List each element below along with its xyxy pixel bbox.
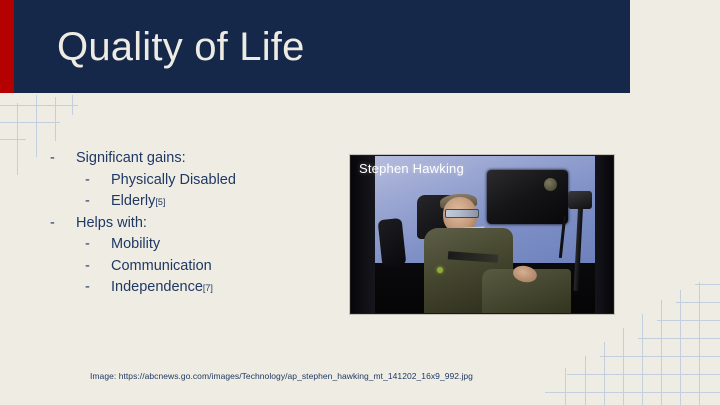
bullet-dash: - [50, 213, 76, 235]
grid-line [623, 328, 624, 405]
grid-line [657, 320, 720, 321]
slide-canvas: Quality of Life - Significant gains: - P… [0, 0, 720, 405]
photo-stage-right-shadow [595, 156, 613, 313]
monitor-camera-head [568, 191, 592, 210]
grid-line [0, 122, 60, 123]
grid-line [55, 97, 56, 141]
grid-line [661, 300, 662, 405]
list-item: - Physically Disabled [50, 170, 350, 192]
list-item-label: Helps with: [76, 213, 147, 235]
bullet-dash: - [85, 170, 111, 192]
grid-line [0, 105, 78, 106]
list-item-label: Communication [111, 256, 212, 278]
grid-line [638, 338, 720, 339]
list-item: - Significant gains: [50, 148, 350, 170]
wheelchair-arm [377, 218, 405, 267]
list-item: - Communication [50, 256, 350, 278]
stephen-hawking-photo: Stephen Hawking [350, 155, 614, 314]
list-item-label: Significant gains: [76, 148, 186, 170]
list-item: - Mobility [50, 234, 350, 256]
bullet-dash: - [50, 148, 76, 170]
grid-line [17, 103, 18, 175]
speech-monitor [487, 170, 568, 223]
grid-line [0, 139, 26, 140]
grid-line [680, 290, 681, 405]
photo-stage-left-shadow [351, 156, 375, 313]
bullet-dash: - [85, 234, 111, 256]
glasses-icon [445, 209, 478, 218]
bullet-dash: - [85, 277, 111, 299]
list-item: - Independence[7] [50, 277, 350, 299]
list-item-label: Mobility [111, 234, 160, 256]
photo-overlay-caption: Stephen Hawking [359, 161, 464, 176]
monitor-badge-icon [544, 178, 557, 191]
grid-line [36, 95, 37, 157]
list-item-label: Physically Disabled [111, 170, 236, 192]
photo-content: Stephen Hawking [351, 156, 613, 313]
grid-line [642, 314, 643, 405]
grid-line [699, 282, 700, 405]
page-title: Quality of Life [57, 24, 305, 70]
bullet-dash: - [85, 256, 111, 278]
title-band: Quality of Life [14, 0, 630, 93]
bullet-dash: - [85, 191, 111, 213]
list-item-label: Independence [111, 277, 203, 299]
list-item: - Elderly[5] [50, 191, 350, 213]
grid-line [72, 95, 73, 115]
list-item: - Helps with: [50, 213, 350, 235]
image-source-caption: Image: https://abcnews.go.com/images/Tec… [90, 371, 630, 381]
grid-line [695, 284, 720, 285]
grid-line [600, 356, 720, 357]
grid-line [545, 392, 720, 393]
bullet-list: - Significant gains: - Physically Disabl… [50, 148, 350, 299]
grid-line [676, 302, 720, 303]
title-accent-bar [0, 0, 14, 93]
list-item-label: Elderly [111, 191, 155, 213]
